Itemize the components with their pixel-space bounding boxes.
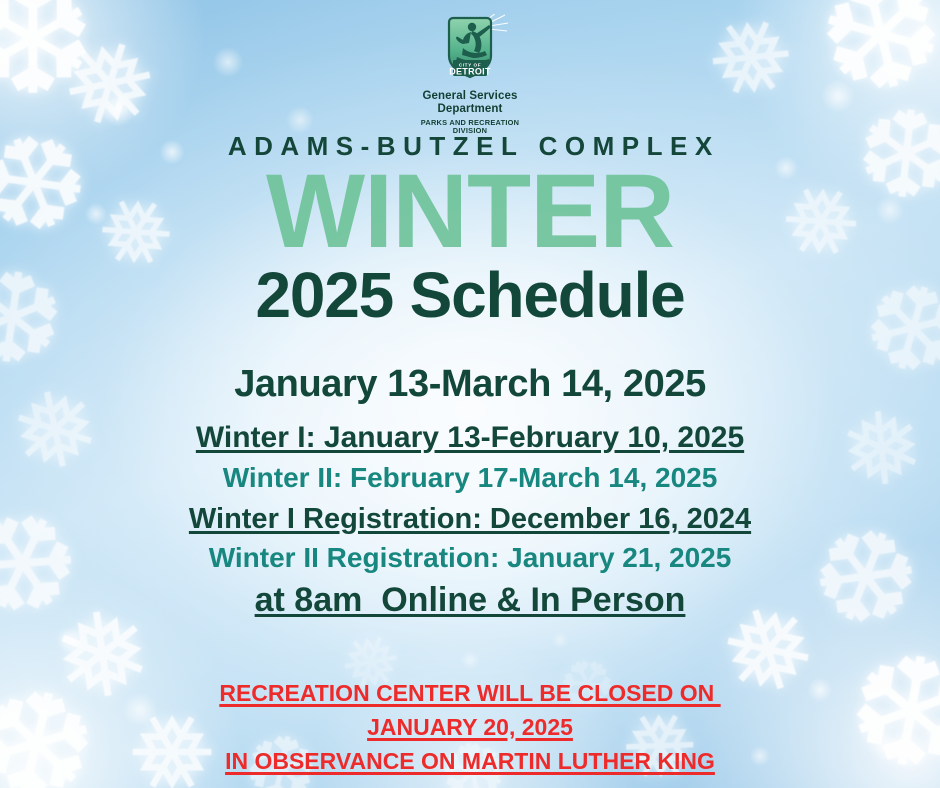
session-winter-1: Winter I: January 13-February 10, 2025	[0, 423, 940, 453]
flyer-content: CITY OF DETROIT General Services Departm…	[0, 0, 940, 788]
session-winter-2: Winter II: February 17-March 14, 2025	[0, 464, 940, 492]
registration-winter-2: Winter II Registration: January 21, 2025	[0, 544, 940, 572]
registration-time-and-method: at 8am Online & In Person	[0, 583, 940, 617]
closure-notice-line-2: JANUARY 20, 2025	[0, 716, 940, 739]
city-of-detroit-shield-icon: CITY OF DETROIT	[427, 14, 513, 86]
department-name: General Services Department	[423, 90, 518, 116]
date-range: January 13-March 14, 2025	[0, 365, 940, 403]
shield-detroit-text: DETROIT	[449, 66, 491, 76]
winter-schedule-flyer: ❆ ❅ ❆ ❅ ❆ ❅ ❆ ❅ ❆ ❅ ❆ ❆ ❅ ❆ ❅ ❆ ❅ ❆ ❅ ❆ …	[0, 0, 940, 788]
registration-winter-1: Winter I Registration: December 16, 2024	[0, 505, 940, 534]
closure-notice-line-3: IN OBSERVANCE ON MARTIN LUTHER KING	[0, 750, 940, 773]
season-headline: WINTER	[0, 159, 940, 264]
department-line-1: General Services	[423, 90, 518, 103]
page-title: 2025 Schedule	[0, 263, 940, 327]
closure-notice-line-1: RECREATION CENTER WILL BE CLOSED ON	[0, 682, 940, 705]
department-line-2: Department	[423, 103, 518, 116]
detroit-parks-logo-block: CITY OF DETROIT General Services Departm…	[0, 14, 940, 136]
